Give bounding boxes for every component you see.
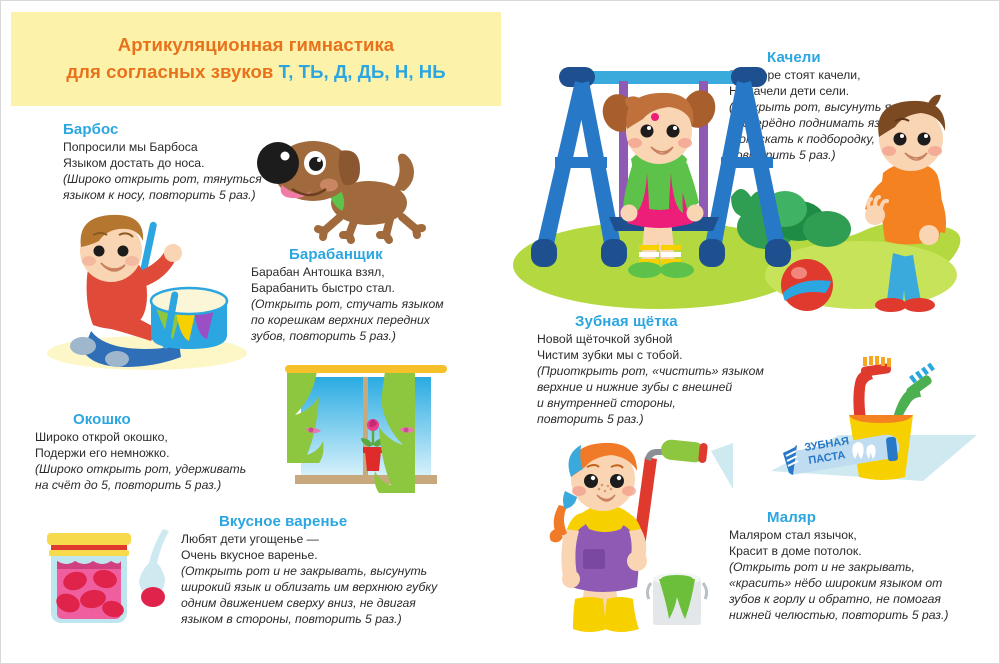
block-instruction-line: зубов к горлу и обратно, не помогая [729, 591, 948, 607]
poster-page: Артикуляционная гимнастика для согласных… [0, 0, 1000, 664]
block-line: Барабанить быстро стал. [251, 280, 444, 296]
block-line: Попросили мы Барбоса [63, 139, 262, 155]
block-instruction-line: повторить 5 раз.) [537, 411, 764, 427]
block-instruction-line: (Широко открыть рот, удерживать [35, 461, 246, 477]
block-instruction-line: (Приоткрыть рот, «чистить» языком [537, 363, 764, 379]
block-line: Очень вкусное варенье. [181, 547, 437, 563]
text-block-drummer: Барабанщик Барабан Антошка взял, Барабан… [251, 246, 444, 344]
block-line: Новой щёточкой зубной [537, 331, 764, 347]
text-block-barbos: Барбос Попросили мы Барбоса Языком доста… [63, 121, 262, 203]
block-instruction-line: (Широко открыть рот, тянуться [63, 171, 262, 187]
text-block-toothbrush: Зубная щётка Новой щёточкой зубной Чисти… [537, 313, 764, 428]
block-heading: Окошко [35, 411, 246, 428]
poster-title-prefix: для согласных звуков [66, 61, 278, 82]
text-block-jam: Вкусное варенье Любят дети угощенье — Оч… [181, 513, 437, 628]
block-instruction-line: языком к носу, повторить 5 раз.) [63, 187, 262, 203]
poster-title-banner: Артикуляционная гимнастика для согласных… [11, 12, 501, 106]
poster-title-sounds: Т, ТЬ, Д, ДЬ, Н, НЬ [279, 61, 446, 82]
illustration-dog [256, 133, 446, 241]
block-instruction-line: языком в стороны, повторить 5 раз.) [181, 611, 437, 627]
illustration-playground [509, 49, 961, 327]
poster-title-line1: Артикуляционная гимнастика [118, 32, 394, 59]
block-instruction-line: широкий язык и облизать им верхнюю губку [181, 579, 437, 595]
block-line: Маляром стал язычок, [729, 527, 948, 543]
illustration-painter-girl [541, 433, 733, 643]
block-instruction-line: на счёт до 5, повторить 5 раз.) [35, 477, 246, 493]
block-heading: Зубная щётка [537, 313, 764, 330]
block-heading: Барабанщик [251, 246, 444, 263]
block-line: Красит в доме потолок. [729, 543, 948, 559]
illustration-toothbrush-set: ЗУБНАЯ ПАСТА [753, 353, 983, 503]
block-heading: Маляр [729, 509, 948, 526]
ball [781, 259, 833, 311]
block-instruction-line: верхние и нижние зубы с внешней [537, 379, 764, 395]
poster-title-line2: для согласных звуков Т, ТЬ, Д, ДЬ, Н, НЬ [66, 59, 445, 86]
block-line: Языком достать до носа. [63, 155, 262, 171]
block-instruction-line: (Открыть рот, стучать языком [251, 296, 444, 312]
block-line: Барабан Антошка взял, [251, 264, 444, 280]
block-instruction-line: одним движением сверху вниз, не двигая [181, 595, 437, 611]
block-heading: Вкусное варенье [181, 513, 437, 530]
text-block-window: Окошко Широко открой окошко, Подержи его… [35, 411, 246, 493]
block-instruction-line: (Открыть рот и не закрывать, [729, 559, 948, 575]
illustration-window [277, 359, 455, 499]
block-instruction-line: по корешкам верхних передних [251, 312, 444, 328]
block-line: Чистим зубки мы с тобой. [537, 347, 764, 363]
block-heading: Барбос [63, 121, 262, 138]
block-instruction-line: «красить» нёбо широким языком от [729, 575, 948, 591]
text-block-painter: Маляр Маляром стал язычок, Красит в доме… [729, 509, 948, 624]
block-instruction-line: нижней челюстью, повторить 5 раз.) [729, 607, 948, 623]
block-instruction-line: и внутренней стороны, [537, 395, 764, 411]
block-instruction-line: зубов, повторить 5 раз.) [251, 328, 444, 344]
illustration-jam-jar [37, 513, 187, 641]
illustration-drummer-boy [39, 213, 251, 371]
block-line: Любят дети угощенье — [181, 531, 437, 547]
block-line: Широко открой окошко, [35, 429, 246, 445]
block-line: Подержи его немножко. [35, 445, 246, 461]
paint-can [647, 573, 706, 625]
block-instruction-line: (Открыть рот и не закрывать, высунуть [181, 563, 437, 579]
